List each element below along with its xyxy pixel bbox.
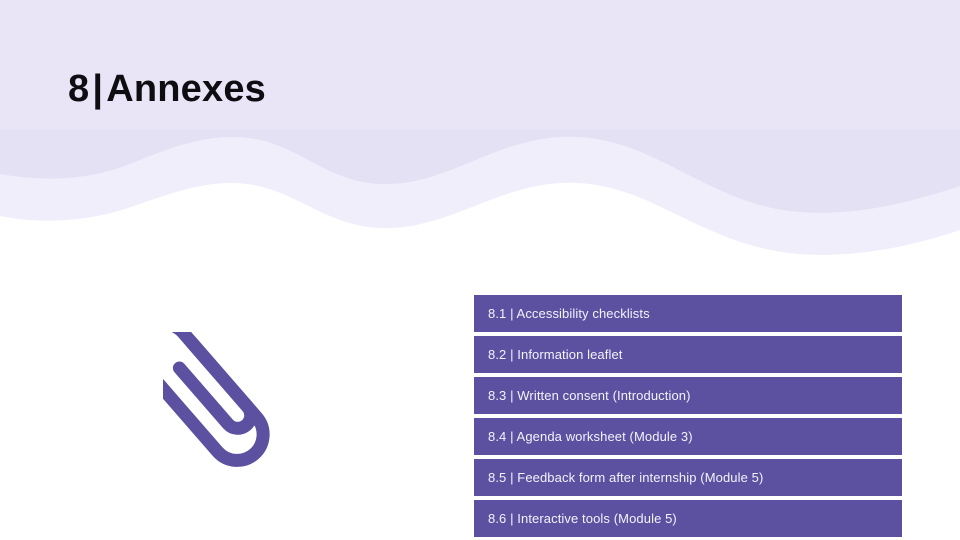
page-title-separator: |	[89, 68, 106, 110]
annex-item-8-4[interactable]: 8.4 | Agenda worksheet (Module 3)	[474, 418, 902, 455]
annex-item-label: 8.5 | Feedback form after internship (Mo…	[474, 470, 763, 485]
page-title: 8|Annexes	[68, 68, 266, 111]
annex-item-8-2[interactable]: 8.2 | Information leaflet	[474, 336, 902, 373]
annex-item-8-3[interactable]: 8.3 | Written consent (Introduction)	[474, 377, 902, 414]
wave-divider	[0, 130, 960, 270]
annex-list: 8.1 | Accessibility checklists 8.2 | Inf…	[474, 295, 902, 537]
annex-item-8-6[interactable]: 8.6 | Interactive tools (Module 5)	[474, 500, 902, 537]
paperclip-illustration	[163, 332, 328, 494]
annex-item-label: 8.3 | Written consent (Introduction)	[474, 388, 691, 403]
slide-canvas: 8|Annexes 8.1 | Accessibility checklists…	[0, 0, 960, 540]
annex-item-label: 8.6 | Interactive tools (Module 5)	[474, 511, 677, 526]
annex-item-8-1[interactable]: 8.1 | Accessibility checklists	[474, 295, 902, 332]
page-title-number: 8	[68, 68, 89, 110]
annex-item-label: 8.1 | Accessibility checklists	[474, 306, 650, 321]
paperclip-outer-loop	[163, 332, 274, 471]
annex-item-label: 8.2 | Information leaflet	[474, 347, 623, 362]
paperclip-icon	[163, 332, 328, 494]
page-title-text: Annexes	[106, 68, 266, 110]
annex-item-8-5[interactable]: 8.5 | Feedback form after internship (Mo…	[474, 459, 902, 496]
annex-item-label: 8.4 | Agenda worksheet (Module 3)	[474, 429, 693, 444]
